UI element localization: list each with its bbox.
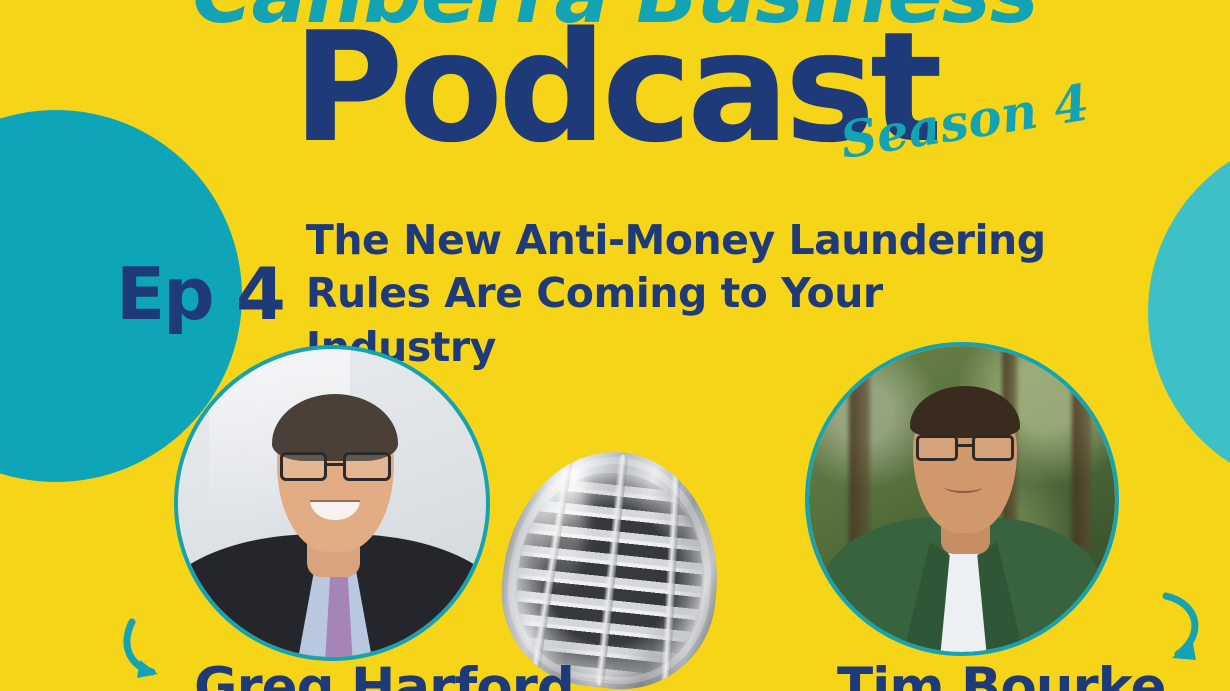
- portrait-image-left: [178, 349, 486, 657]
- microphone-rim: [499, 447, 723, 691]
- guest-name-right: Tim Bourke: [837, 661, 1165, 691]
- microphone-icon: [498, 452, 730, 691]
- guest-portrait-greg-harford: [174, 345, 490, 661]
- glasses-icon: [916, 435, 1014, 461]
- podcast-cover-art: Canberra Business Podcast Season 4 Ep 4 …: [0, 0, 1230, 691]
- guest-portrait-tim-bourke: [805, 342, 1119, 656]
- tree-trunk: [1072, 346, 1090, 548]
- microphone-head: [492, 441, 729, 691]
- glasses-icon: [280, 452, 391, 481]
- episode-number: Ep 4: [116, 258, 284, 330]
- curved-arrow-left-icon: [118, 612, 188, 686]
- curved-arrow-right-icon: [1144, 588, 1222, 668]
- portrait-image-right: [809, 346, 1115, 652]
- decorative-circle-right: [1148, 132, 1230, 492]
- guest-name-left: Greg Harford: [194, 661, 574, 691]
- episode-title-line-1: The New Anti-Money Laundering: [306, 214, 1066, 267]
